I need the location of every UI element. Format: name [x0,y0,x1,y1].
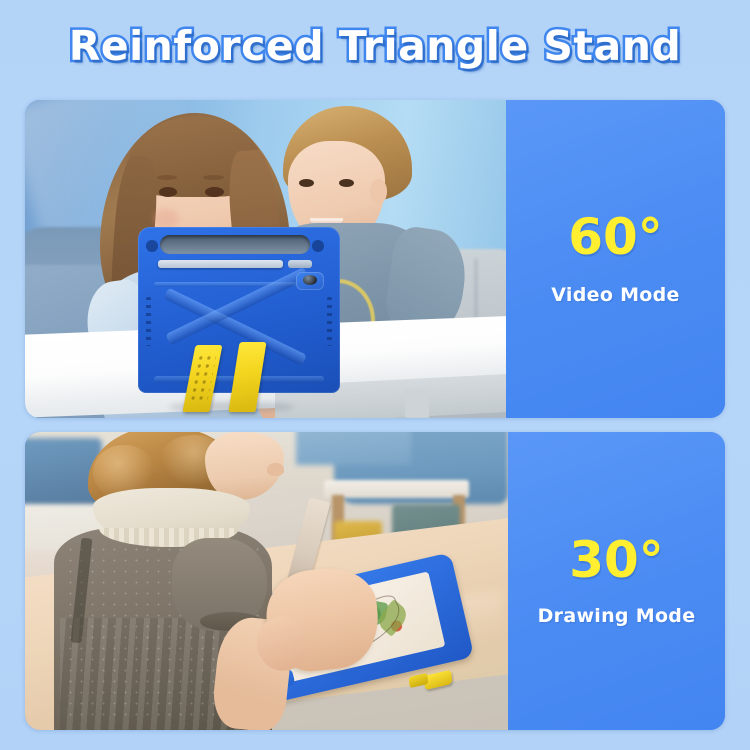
girl-eyebrow-left [157,175,177,180]
scene-table-leg [405,389,429,418]
case-vent-right [327,297,332,347]
boy-eye-left [299,179,314,187]
case-corner-bumper-right [312,240,324,252]
page-title-container: Reinforced Triangle Stand [0,22,750,70]
drawing-mode-angle: 30° [569,535,664,585]
boy-ear [370,179,388,204]
photo-drawing-mode [25,432,508,730]
video-mode-label: Video Mode [551,284,680,306]
case-vent-left [146,297,151,347]
product-feature-page: Reinforced Triangle Stand [0,0,750,750]
scene2-background-table-top [324,480,469,498]
girl-cheek [153,209,179,228]
page-title: Reinforced Triangle Stand [69,22,682,70]
case-stylus-slot-secondary [288,260,312,267]
girl2-nose [267,463,284,475]
drawing-mode-info-panel: 30° Drawing Mode [508,432,725,730]
video-mode-info-panel: 60° Video Mode [506,100,725,418]
boy-eye-right [339,179,354,187]
case-stylus-slot [158,260,283,267]
drawing-mode-label: Drawing Mode [538,605,696,627]
case-camera-lens [303,275,317,285]
case-carry-handle [160,235,309,253]
feature-card-video-mode: 60° Video Mode [25,100,725,418]
video-mode-angle: 60° [568,212,663,262]
photo-video-mode [25,100,506,418]
girl-eyebrow-right [203,175,223,180]
feature-card-drawing-mode: 30° Drawing Mode [25,432,725,730]
